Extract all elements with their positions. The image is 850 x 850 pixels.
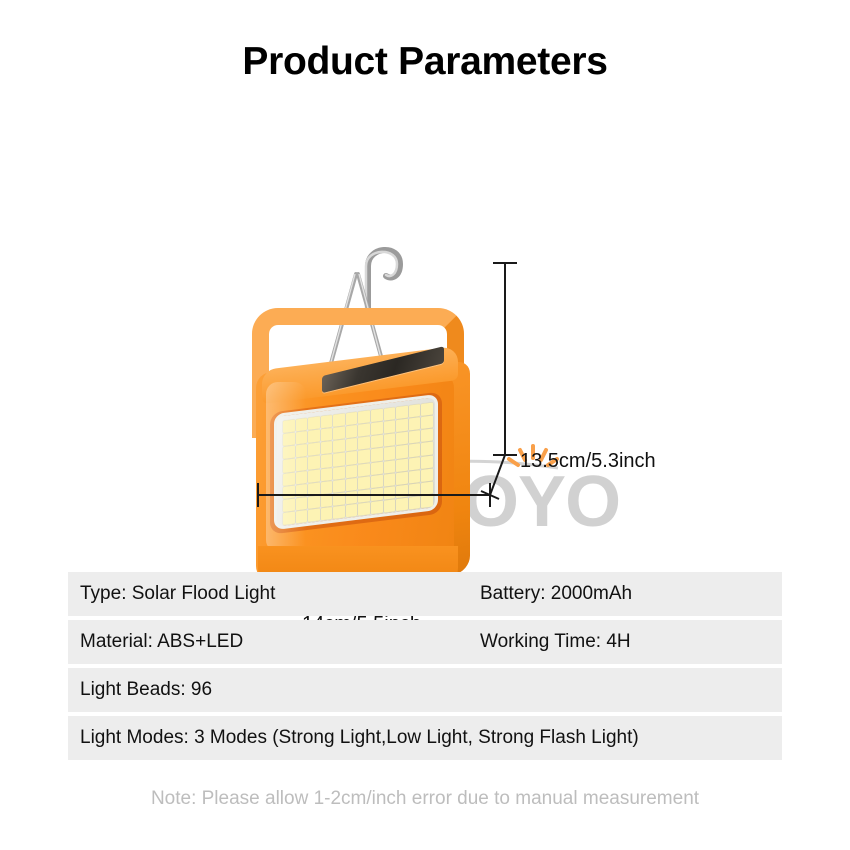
spec-table: Type: Solar Flood Light Battery: 2000mAh… (68, 572, 782, 764)
dimension-lines (0, 110, 850, 540)
table-row: Light Modes: 3 Modes (Strong Light,Low L… (68, 716, 782, 760)
measurement-note: Note: Please allow 1-2cm/inch error due … (0, 788, 850, 810)
table-row: Type: Solar Flood Light Battery: 2000mAh (68, 572, 782, 616)
spec-cell-left: Material: ABS+LED (68, 631, 480, 653)
page-title: Product Parameters (0, 40, 850, 84)
spec-cell-right: Working Time: 4H (480, 631, 631, 653)
product-parameters-page: Product Parameters AJUOYO (0, 0, 850, 850)
spec-cell-left: Light Beads: 96 (68, 679, 480, 701)
spec-cell-right: Battery: 2000mAh (480, 583, 632, 605)
spec-cell-left: Type: Solar Flood Light (68, 583, 480, 605)
dimension-height-label: 13.5cm/5.3inch (520, 450, 656, 473)
spec-cell-left: Light Modes: 3 Modes (Strong Light,Low L… (68, 727, 639, 749)
table-row: Light Beads: 96 (68, 668, 782, 712)
dimension-annotations: 13.5cm/5.3inch 4cm/1.6inch 14cm/5.5inch (0, 110, 850, 540)
table-row: Material: ABS+LED Working Time: 4H (68, 620, 782, 664)
